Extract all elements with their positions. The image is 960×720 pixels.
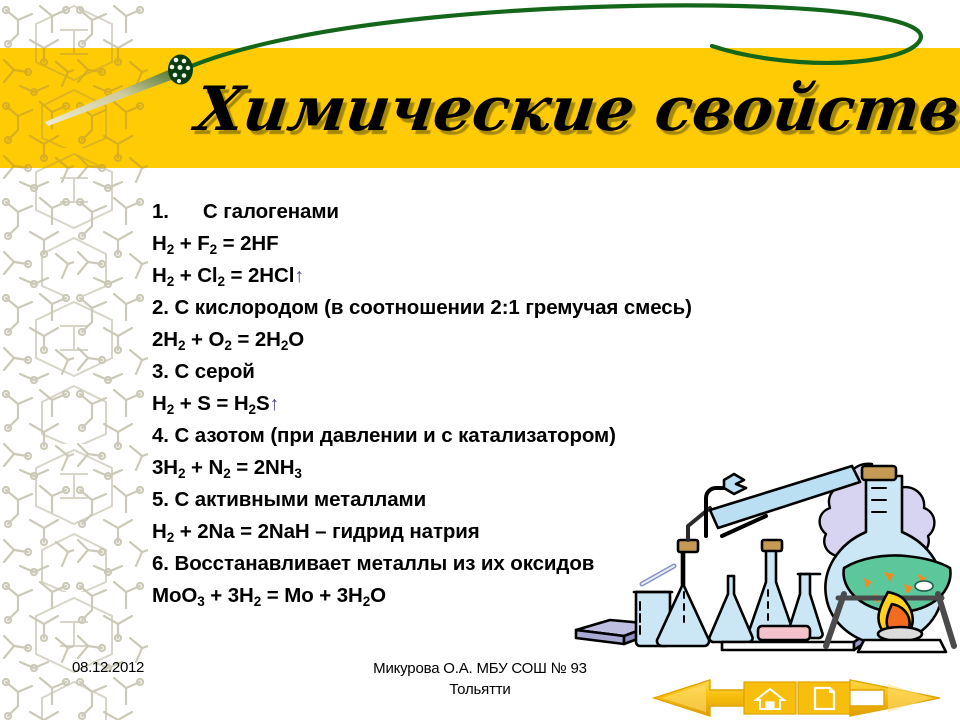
line-8: 4. С азотом (при давлении и с катализато… bbox=[152, 420, 852, 452]
footer-author-line-1: Микурова О.А. МБУ СОШ № 93 bbox=[270, 658, 690, 679]
line-1: 1.С галогенами bbox=[152, 196, 852, 228]
line-3: H2 + Cl2 = 2HCl↑ bbox=[152, 260, 852, 292]
decorative-sphere-icon bbox=[167, 54, 194, 85]
banner-pattern-overlay bbox=[0, 48, 148, 168]
line-2: H2 + F2 = 2HF bbox=[152, 228, 852, 260]
document-button bbox=[798, 682, 850, 714]
line-7: H2 + S = H2S↑ bbox=[152, 388, 852, 420]
line-6: 3. С серой bbox=[152, 356, 852, 388]
line-4: 2. С кислородом (в соотношении 2:1 грему… bbox=[152, 292, 852, 324]
slide-navigation bbox=[648, 676, 948, 718]
footer-author: Микурова О.А. МБУ СОШ № 93 Тольятти bbox=[270, 658, 690, 700]
home-button bbox=[744, 682, 796, 714]
footer-date: 08.12.2012 bbox=[72, 659, 144, 676]
line-5: 2H2 + O2 = 2H2O bbox=[152, 324, 852, 356]
chemistry-lab-illustration bbox=[572, 452, 960, 662]
next-slide-button bbox=[850, 680, 940, 716]
previous-slide-button bbox=[654, 680, 744, 716]
presentation-slide: Химические свойства 1.С галогенами H2 + … bbox=[0, 0, 960, 720]
page-title: Химические свойства bbox=[190, 62, 960, 162]
document-icon bbox=[815, 688, 834, 709]
footer-author-line-2: Тольятти bbox=[270, 679, 690, 700]
